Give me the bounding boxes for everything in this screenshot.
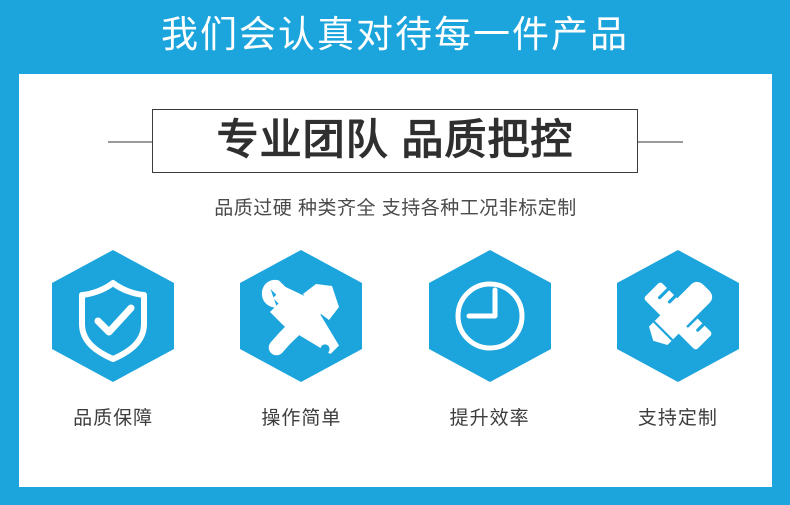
hexagon-badge bbox=[240, 250, 362, 382]
feature-item-quality: 品质保障 bbox=[26, 250, 201, 430]
feature-item-efficiency: 提升效率 bbox=[402, 250, 577, 430]
feature-list: 品质保障 操作简单 bbox=[19, 250, 772, 445]
feature-item-easy-operation: 操作简单 bbox=[214, 250, 389, 430]
feature-label: 品质保障 bbox=[73, 403, 153, 430]
promo-banner: 我们会认真对待每一件产品 专业团队 品质把控 品质过硬 种类齐全 支持各种工况非… bbox=[0, 0, 790, 505]
page-title: 我们会认真对待每一件产品 bbox=[0, 0, 790, 74]
headline-subtitle: 品质过硬 种类齐全 支持各种工况非标定制 bbox=[19, 193, 772, 220]
headline-block: 专业团队 品质把控 bbox=[19, 96, 772, 188]
hexagon-badge bbox=[52, 250, 174, 382]
hexagon-badge bbox=[429, 250, 551, 382]
feature-label: 支持定制 bbox=[638, 403, 718, 430]
feature-label: 操作简单 bbox=[261, 403, 341, 430]
feature-item-customization: 支持定制 bbox=[590, 250, 765, 430]
headline-text: 专业团队 品质把控 bbox=[152, 109, 638, 173]
feature-label: 提升效率 bbox=[450, 403, 530, 430]
hexagon-badge bbox=[617, 250, 739, 382]
